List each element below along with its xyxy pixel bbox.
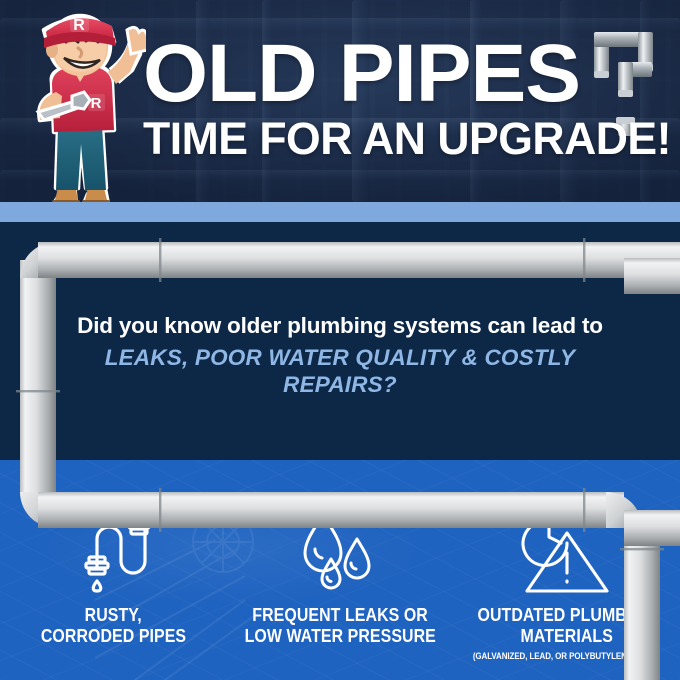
symptom-cards: RUSTY, CORRODED PIPES FREQUENT LEAKS OR — [0, 505, 680, 675]
card-label-line1: OUTDATED PLUMBING — [478, 605, 656, 626]
card-label-line2: CORRODED PIPES — [41, 626, 186, 647]
page-subtitle: TIME FOR AN UPGRADE! — [143, 116, 658, 161]
card-outdated-materials: OUTDATED PLUMBING MATERIALS (GALVANIZED,… — [453, 505, 680, 675]
card-rusty-pipes: RUSTY, CORRODED PIPES — [0, 505, 227, 675]
card-icon-wrap — [521, 505, 613, 593]
card-icon-wrap — [299, 505, 381, 593]
page-title: OLD PIPES — [143, 40, 673, 107]
plumber-mascot-icon: R R — [14, 8, 146, 202]
accent-band — [0, 202, 680, 222]
did-you-know-panel: Did you know older plumbing systems can … — [60, 260, 620, 435]
did-you-know-line1: Did you know older plumbing systems can … — [60, 312, 620, 339]
header-title-group: OLD PIPES TIME FOR AN UPGRADE! — [143, 40, 663, 161]
svg-text:R: R — [73, 17, 85, 34]
svg-text:R: R — [91, 95, 102, 112]
card-frequent-leaks: FREQUENT LEAKS OR LOW WATER PRESSURE — [227, 505, 454, 675]
infographic-root: R R OLD PIP — [0, 0, 680, 680]
card-label-line1: FREQUENT LEAKS OR — [252, 605, 428, 626]
water-droplets-icon — [299, 507, 381, 593]
card-label-line1: RUSTY, — [85, 605, 142, 626]
card-label-line2: MATERIALS — [520, 626, 612, 647]
did-you-know-line2: LEAKS, POOR WATER QUALITY & COSTLY REPAI… — [60, 344, 620, 398]
header-section: R R OLD PIP — [0, 0, 680, 202]
card-label-sub: (GALVANIZED, LEAD, OR POLYBUTYLENE PIPES… — [473, 651, 660, 662]
clock-warning-triangle-icon — [521, 507, 613, 593]
card-label-line2: LOW WATER PRESSURE — [244, 626, 435, 647]
s-trap-pipe-drip-icon — [73, 507, 153, 593]
card-icon-wrap — [73, 505, 153, 593]
